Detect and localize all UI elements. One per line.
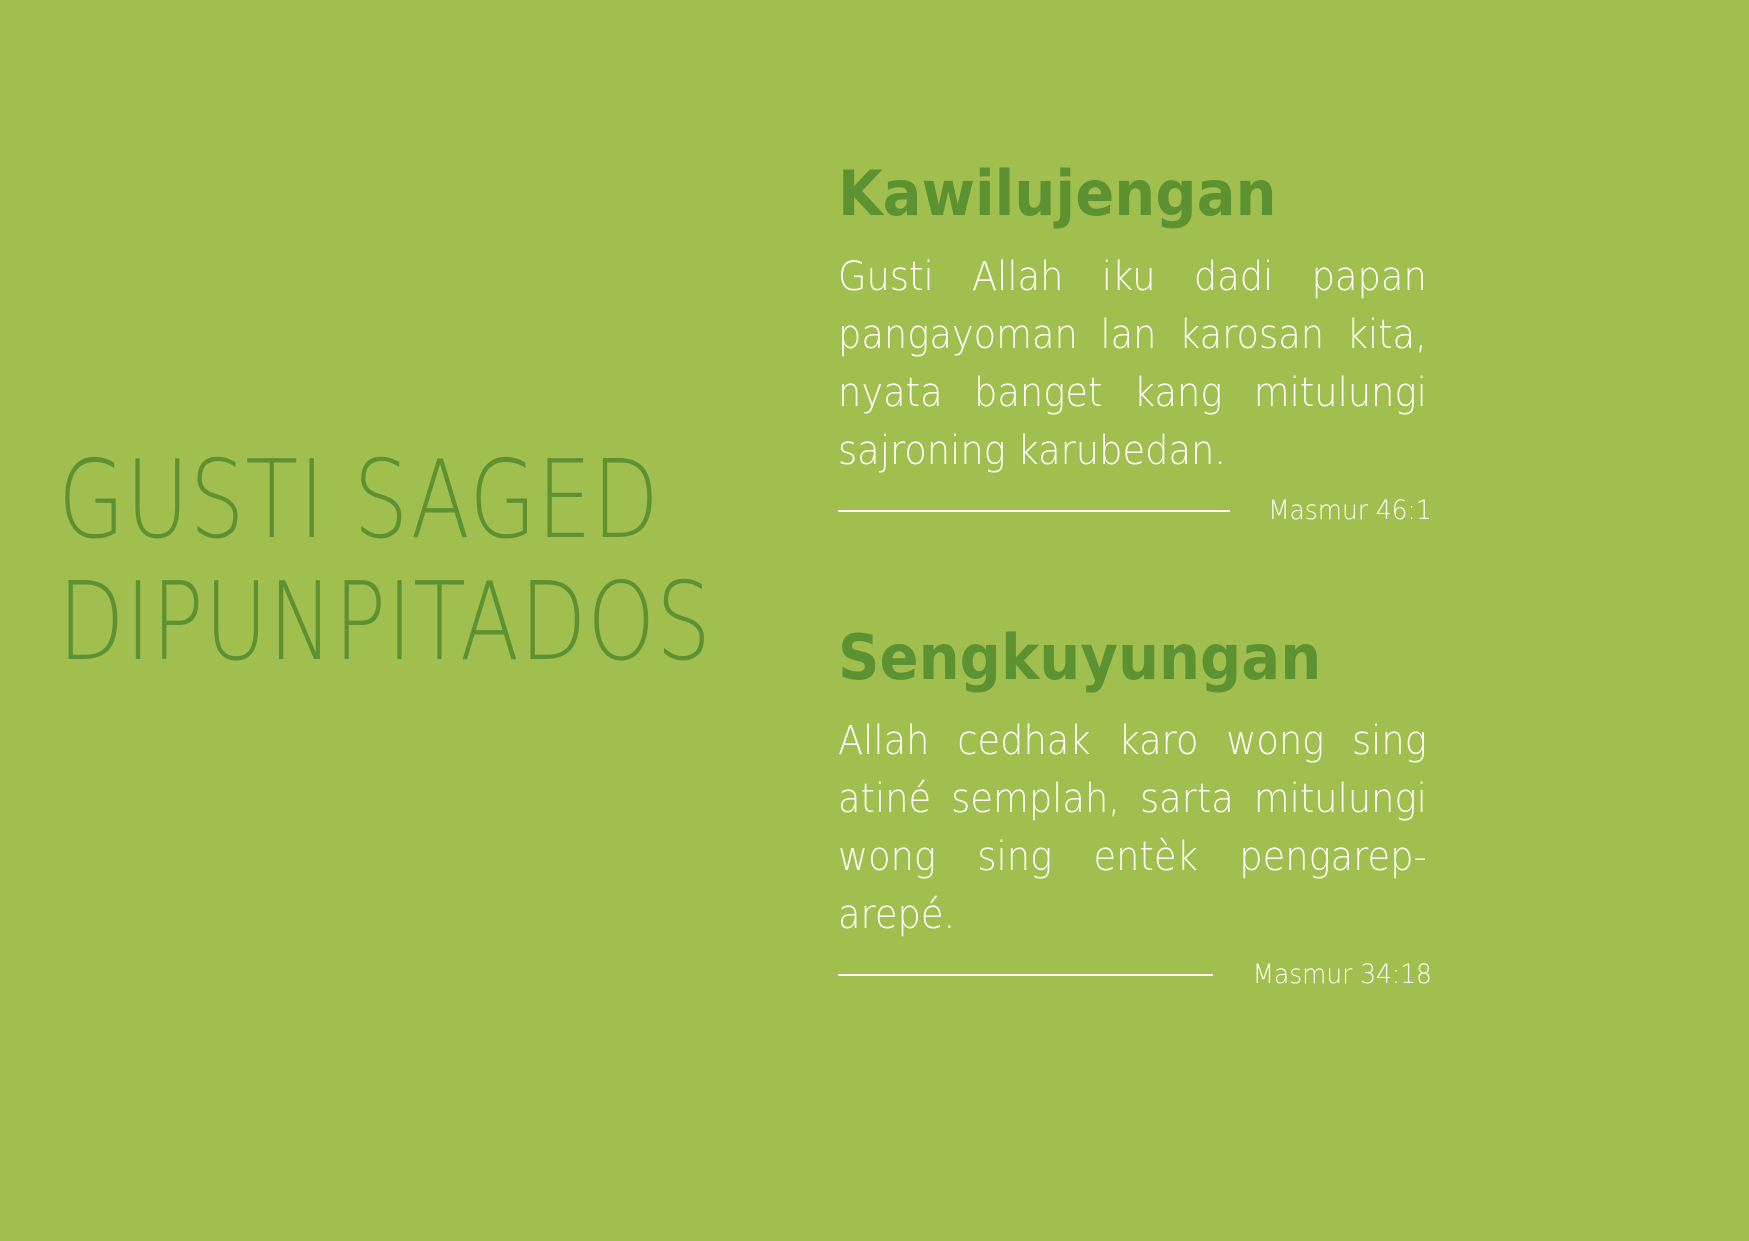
page-title-line-2: DIPUNPITADOS: [58, 562, 618, 684]
page-title: GUSTI SAGED DIPUNPITADOS: [58, 440, 758, 684]
citation-row: Masmur 34:18: [838, 960, 1432, 990]
verse-block-sengkuyungan: Sengkuyungan Allah cedhak karo wong sing…: [838, 622, 1432, 990]
verse-body: Allah cedhak karo wong sing atiné sempla…: [838, 712, 1427, 944]
verse-block-kawilujengan: Kawilujengan Gusti Allah iku dadi papan …: [838, 158, 1432, 526]
slide-canvas: GUSTI SAGED DIPUNPITADOS Kawilujengan Gu…: [0, 0, 1749, 1241]
verse-heading: Kawilujengan: [838, 158, 1390, 230]
page-title-line-1: GUSTI SAGED: [58, 440, 618, 562]
citation-row: Masmur 46:1: [838, 496, 1432, 526]
citation-rule: [838, 974, 1213, 976]
citation-reference: Masmur 34:18: [1253, 960, 1432, 990]
citation-reference: Masmur 46:1: [1269, 496, 1432, 526]
verse-column: Kawilujengan Gusti Allah iku dadi papan …: [838, 0, 1438, 1241]
verse-body: Gusti Allah iku dadi papan pangayoman la…: [838, 248, 1427, 480]
citation-rule: [838, 510, 1230, 512]
verse-heading: Sengkuyungan: [838, 622, 1390, 694]
